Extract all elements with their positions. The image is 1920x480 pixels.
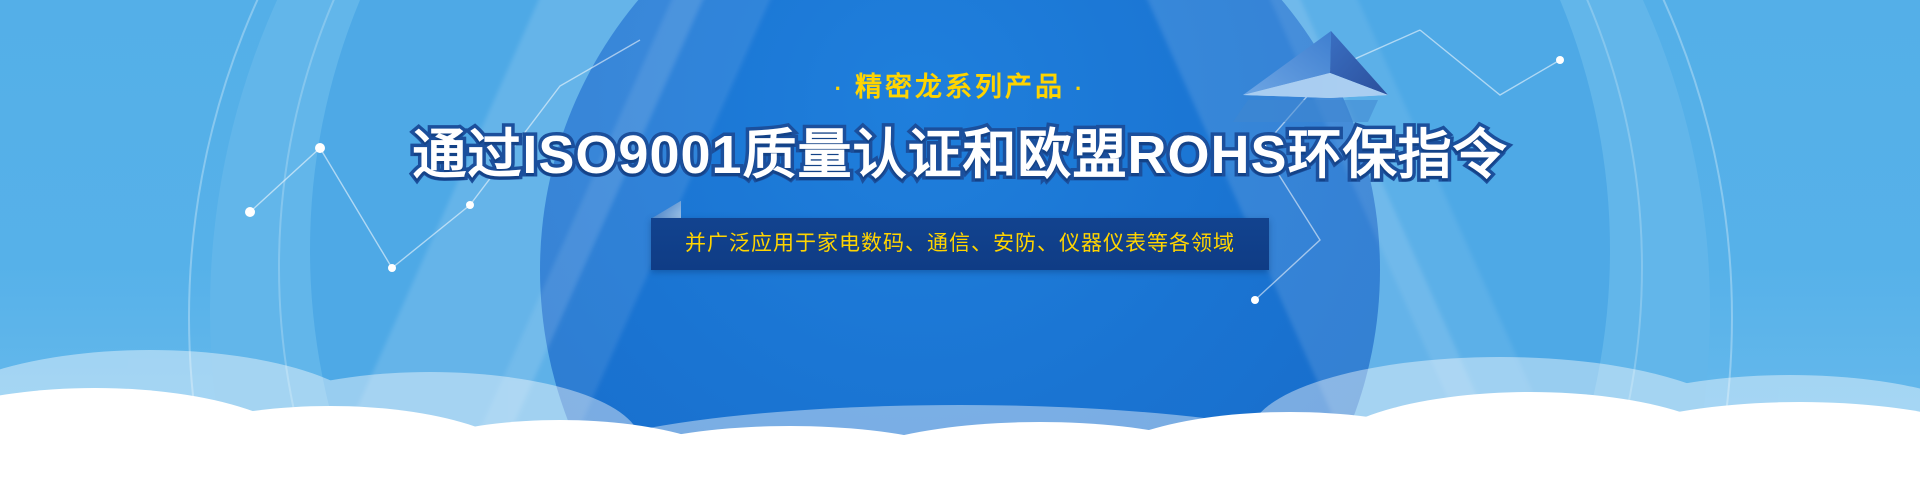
eyebrow-dot-right: · <box>1065 78 1095 100</box>
eyebrow-text: 精密龙系列产品 <box>855 72 1065 102</box>
subbar-text: 并广泛应用于家电数码、通信、安防、仪器仪表等各领域 <box>651 218 1269 270</box>
eyebrow-dot-left: · <box>825 78 855 100</box>
eyebrow-line: ·精密龙系列产品· <box>825 74 1096 101</box>
promo-banner: ·精密龙系列产品· 通过ISO9001质量认证和欧盟ROHS环保指令 并广泛应用… <box>0 0 1920 480</box>
headline-text: 通过ISO9001质量认证和欧盟ROHS环保指令 <box>412 127 1507 184</box>
banner-content: ·精密龙系列产品· 通过ISO9001质量认证和欧盟ROHS环保指令 并广泛应用… <box>0 0 1920 480</box>
ribbon-fold-icon <box>651 201 681 219</box>
subbar-wrapper: 并广泛应用于家电数码、通信、安防、仪器仪表等各领域 <box>651 218 1269 270</box>
